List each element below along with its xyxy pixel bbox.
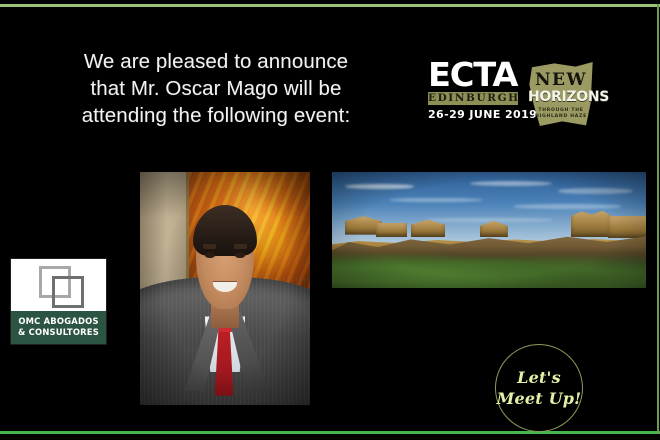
headline-line-3: attending the following event: [26,102,406,129]
ecta-event-dates: 26-29 JUNE 2019 [428,109,522,121]
headline-line-1: We are pleased to announce [26,48,406,75]
right-accent-rule [657,4,659,434]
new-horizons-logo: NEW HORIZONS THROUGH THE HIGHLAND HAZE [528,62,594,128]
meetup-line-2: Meet Up! [497,388,582,409]
omc-square-front-icon [52,276,84,308]
portrait-scene [140,172,310,405]
omc-logo: OMC ABOGADOS & CONSULTORES [10,258,107,345]
omc-logo-name: OMC ABOGADOS & CONSULTORES [11,311,106,344]
lets-meet-up-badge: Let's Meet Up! [495,344,583,432]
meetup-line-1: Let's [517,367,561,388]
new-horizons-tagline-line-2: HIGHLAND HAZE [528,114,594,120]
omc-logo-mark [11,259,106,311]
edinburgh-castle-photo [332,172,646,288]
headline-line-2: that Mr. Oscar Mago will be [26,75,406,102]
top-accent-rule [0,4,660,7]
announcement-poster: We are pleased to announce that Mr. Osca… [0,0,660,440]
announcement-headline: We are pleased to announce that Mr. Osca… [26,48,406,129]
new-horizons-line-2: HORIZONS [528,90,594,105]
new-horizons-tagline: THROUGH THE HIGHLAND HAZE [528,108,594,120]
ecta-logo: ECTA EDINBURGH 26-29 JUNE 2019 [428,58,522,121]
omc-name-line-2: & CONSULTORES [13,327,104,338]
bottom-accent-rule [0,431,660,434]
castle-vignette [332,172,646,288]
ecta-wordmark: ECTA [428,58,524,91]
new-horizons-line-1: NEW [528,72,594,89]
omc-name-line-1: OMC ABOGADOS [13,316,104,327]
speaker-portrait-photo [140,172,310,405]
portrait-vignette [140,172,310,405]
